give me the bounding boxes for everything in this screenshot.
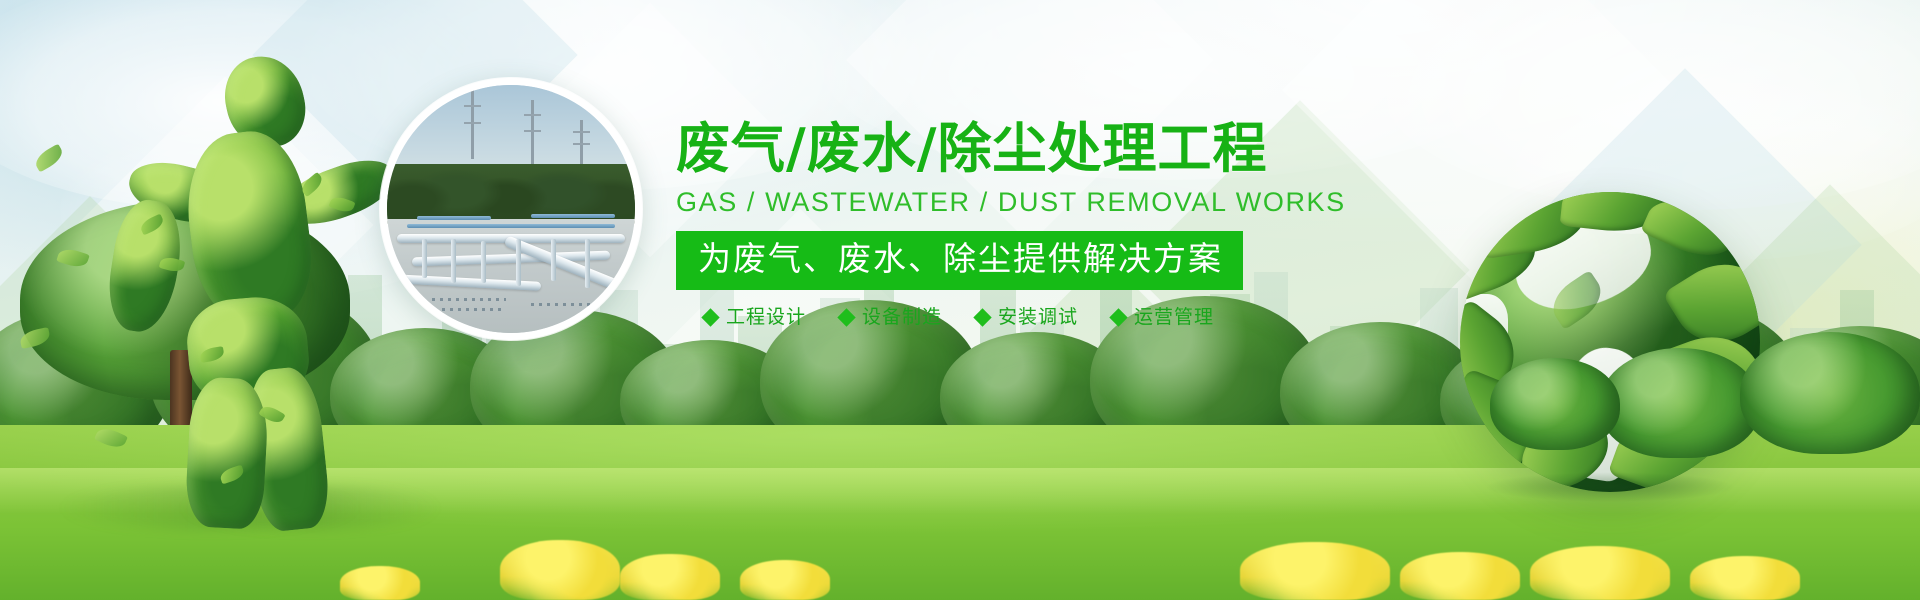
diamond-bullet-icon (973, 308, 991, 326)
bush (1740, 332, 1920, 454)
bush (1600, 348, 1760, 458)
diamond-bullet-icon (837, 308, 855, 326)
subtitle-english: GAS / WASTEWATER / DUST REMOVAL WORKS (676, 186, 1316, 218)
slogan-text: 为废气、废水、除尘提供解决方案 (698, 239, 1223, 278)
diamond-bullet-icon (1109, 308, 1127, 326)
list-item[interactable]: 设备制造 (840, 306, 942, 328)
service-bullet-list: 工程设计 设备制造 安装调试 运营管理 (704, 306, 1316, 328)
bullet-label: 工程设计 (726, 306, 806, 328)
environmental-engineering-banner: 废气/废水/除尘处理工程 GAS / WASTEWATER / DUST REM… (0, 0, 1920, 600)
bush (1490, 358, 1620, 450)
list-item[interactable]: 工程设计 (704, 306, 806, 328)
bullet-label: 设备制造 (862, 306, 942, 328)
diamond-bullet-icon (701, 308, 719, 326)
slogan-bar: 为废气、废水、除尘提供解决方案 (676, 231, 1243, 290)
bullet-label: 运营管理 (1134, 306, 1214, 328)
bullet-label: 安装调试 (998, 306, 1078, 328)
banner-text-block: 废气/废水/除尘处理工程 GAS / WASTEWATER / DUST REM… (676, 118, 1316, 328)
list-item[interactable]: 运营管理 (1112, 306, 1214, 328)
wastewater-plant-photo (380, 78, 642, 340)
list-item[interactable]: 安装调试 (976, 306, 1078, 328)
leaf-man-figure (130, 48, 410, 518)
page-title: 废气/废水/除尘处理工程 (676, 118, 1316, 180)
